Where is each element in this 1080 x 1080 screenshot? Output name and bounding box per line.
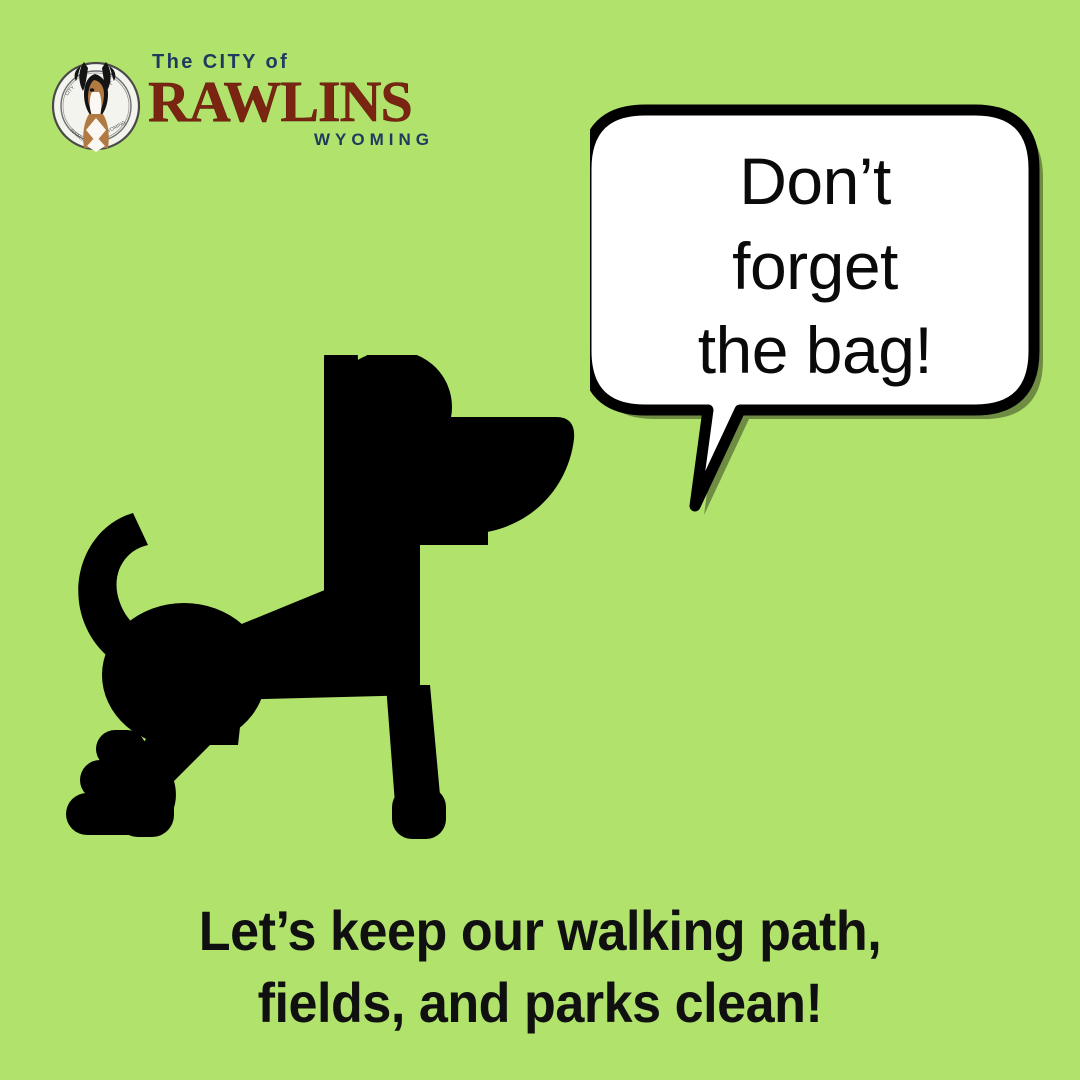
bubble-line-3: the bag! — [698, 308, 933, 392]
logo-rawlins-line: RAWLINS — [148, 74, 438, 129]
caption-line-2: fields, and parks clean! — [38, 967, 1042, 1039]
caption-line-1: Let’s keep our walking path, — [38, 895, 1042, 967]
city-logo: CITY SEAL RAWLINS WYOMING — [48, 48, 388, 168]
dog-silhouette — [78, 355, 574, 839]
speech-bubble-text: Don’t forget the bag! — [618, 126, 1012, 406]
city-logo-wordmark: The CITY of RAWLINS WYOMING — [148, 52, 438, 164]
city-seal-icon: CITY SEAL RAWLINS WYOMING — [48, 56, 144, 152]
caption-text: Let’s keep our walking path, fields, and… — [38, 895, 1042, 1038]
speech-bubble: Don’t forget the bag! — [590, 96, 1050, 526]
bubble-line-2: forget — [732, 224, 898, 308]
poster-canvas: CITY SEAL RAWLINS WYOMING — [0, 0, 1080, 1080]
bubble-line-1: Don’t — [739, 139, 891, 223]
